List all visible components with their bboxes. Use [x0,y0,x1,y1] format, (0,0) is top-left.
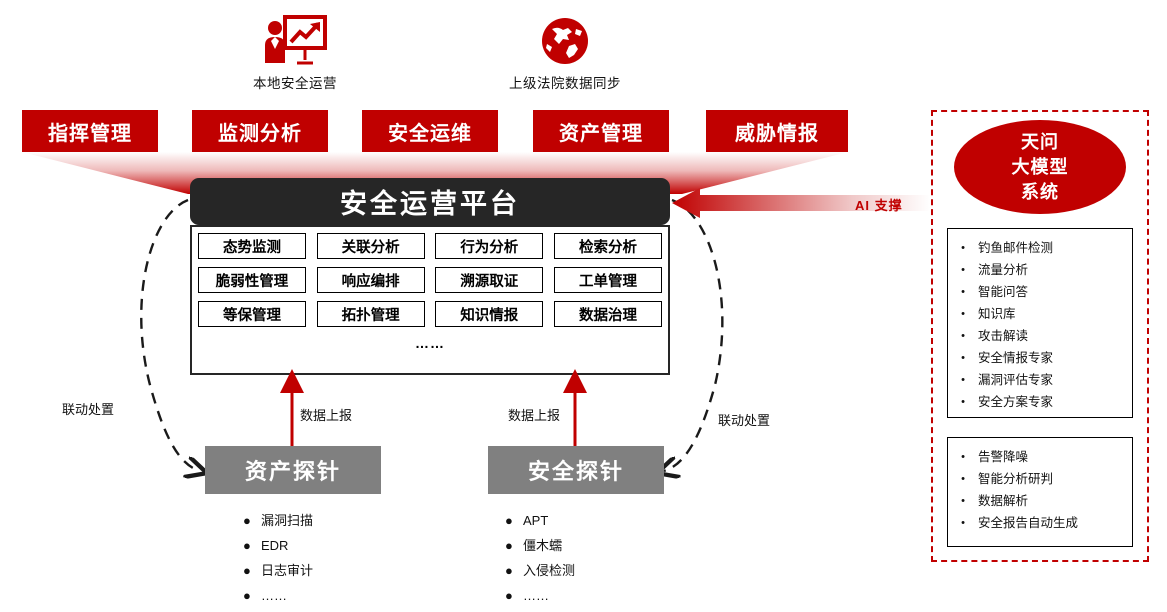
bullet-icon: • [948,369,978,391]
module-label: 工单管理 [579,270,637,291]
top-icon-court-data-sync: 上级法院数据同步 [485,12,645,92]
module-label: 等保管理 [223,304,281,325]
bullet-icon: • [948,303,978,325]
list-item-label: EDR [261,533,288,558]
bullet-icon: ● [505,533,523,558]
list-item-label: …… [261,583,287,608]
probe-label: 资产探针 [245,454,341,486]
flow-label-ai-support: AI 支撑 [855,195,903,214]
module-label: 溯源取证 [460,270,518,291]
list-item-label: 钓鱼邮件检测 [978,237,1053,259]
list-item-label: 漏洞评估专家 [978,369,1053,391]
module-box[interactable]: 数据治理 [554,301,662,327]
bullet-icon: • [948,347,978,369]
bullet-icon: ● [505,558,523,583]
ai-capability-list-secondary: •告警降噪 •智能分析研判 •数据解析 •安全报告自动生成 [947,437,1133,547]
module-box[interactable]: 拓扑管理 [317,301,425,327]
bullet-icon: • [948,490,978,512]
ai-capability-list-primary: •钓鱼邮件检测 •流量分析 •智能问答 •知识库 •攻击解读 •安全情报专家 •… [947,228,1133,418]
list-item-label: 流量分析 [978,259,1028,281]
module-box[interactable]: 行为分析 [435,233,543,259]
module-box[interactable]: 响应编排 [317,267,425,293]
top-icon-label: 本地安全运营 [215,72,375,92]
module-box[interactable]: 检索分析 [554,233,662,259]
bullet-icon: • [948,281,978,303]
probe-list-asset: ●漏洞扫描 ●EDR ●日志审计 ●…… [243,508,313,608]
module-box[interactable]: 溯源取证 [435,267,543,293]
flow-label-report-left: 数据上报 [300,405,352,424]
list-item: •钓鱼邮件检测 [948,237,1132,259]
list-item-label: 入侵检测 [523,558,575,583]
list-item-label: 僵木蠕 [523,533,562,558]
bullet-icon: • [948,512,978,534]
top-icon-local-operations: 本地安全运营 [215,12,375,92]
capability-box-0[interactable]: 指挥管理 [22,110,158,152]
list-item: •知识库 [948,303,1132,325]
module-box[interactable]: 工单管理 [554,267,662,293]
list-item: ●入侵检测 [505,558,575,583]
module-box[interactable]: 等保管理 [198,301,306,327]
module-row: 等保管理 拓扑管理 知识情报 数据治理 [198,301,662,327]
module-label: 态势监测 [223,236,281,257]
ai-title-line-2: 大模型 [1012,155,1069,180]
capability-box-4[interactable]: 威胁情报 [706,110,848,152]
list-item: •智能分析研判 [948,468,1132,490]
ai-title-line-3: 系统 [1021,180,1059,205]
list-item: ●…… [243,583,313,608]
list-item: •安全情报专家 [948,347,1132,369]
list-item-label: …… [523,583,549,608]
capability-label: 指挥管理 [48,117,132,146]
list-item: ●僵木蠕 [505,533,575,558]
probe-box-security[interactable]: 安全探针 [488,446,664,494]
module-label: 知识情报 [460,304,518,325]
list-item-label: 知识库 [978,303,1016,325]
list-item: •漏洞评估专家 [948,369,1132,391]
list-item: •安全方案专家 [948,391,1132,413]
list-item: •攻击解读 [948,325,1132,347]
flow-label-report-right: 数据上报 [508,405,560,424]
module-label: 行为分析 [460,236,518,257]
list-item: ●EDR [243,533,313,558]
flow-label-linkage-left: 联动处置 [62,399,114,418]
flow-label-linkage-right: 联动处置 [718,410,770,429]
bullet-icon: • [948,391,978,413]
bullet-icon: ● [243,583,261,608]
list-item-label: 智能分析研判 [978,468,1053,490]
list-item-label: 安全情报专家 [978,347,1053,369]
bullet-icon: ● [505,583,523,608]
list-item-label: 安全报告自动生成 [978,512,1078,534]
module-label: 响应编排 [342,270,400,291]
ai-model-badge[interactable]: 天问 大模型 系统 [954,120,1126,214]
list-item: •安全报告自动生成 [948,512,1132,534]
list-item-label: 数据解析 [978,490,1028,512]
list-item: ●漏洞扫描 [243,508,313,533]
bullet-icon: • [948,446,978,468]
platform-module-grid: 态势监测 关联分析 行为分析 检索分析 脆弱性管理 响应编排 溯源取证 工单管理… [198,233,662,351]
list-item-label: APT [523,508,548,533]
module-box[interactable]: 知识情报 [435,301,543,327]
list-item: •数据解析 [948,490,1132,512]
probe-label: 安全探针 [528,454,624,486]
module-row: 态势监测 关联分析 行为分析 检索分析 [198,233,662,259]
module-box[interactable]: 脆弱性管理 [198,267,306,293]
top-icon-label: 上级法院数据同步 [485,72,645,92]
bullet-icon: • [948,237,978,259]
ai-title-line-1: 天问 [1021,130,1059,155]
capability-label: 安全运维 [388,117,472,146]
list-item-label: 告警降噪 [978,446,1028,468]
bullet-icon: ● [243,558,261,583]
list-item: ●日志审计 [243,558,313,583]
list-item: •智能问答 [948,281,1132,303]
capability-label: 资产管理 [559,117,643,146]
probe-box-asset[interactable]: 资产探针 [205,446,381,494]
list-item: ●APT [505,508,575,533]
list-item-label: 日志审计 [261,558,313,583]
globe-icon [485,12,645,70]
platform-title-bar: 安全运营平台 [190,178,670,225]
module-label: 关联分析 [342,236,400,257]
page-title: 安全运营平台 [340,182,520,221]
list-item-label: 安全方案专家 [978,391,1053,413]
bullet-icon: ● [243,533,261,558]
list-item: •告警降噪 [948,446,1132,468]
bullet-icon: • [948,468,978,490]
list-item-label: 漏洞扫描 [261,508,313,533]
bullet-icon: • [948,325,978,347]
capability-label: 威胁情报 [735,117,819,146]
module-label: 拓扑管理 [342,304,400,325]
capability-box-1[interactable]: 监测分析 [192,110,328,152]
module-more-indicator: …… [198,335,662,351]
probe-list-security: ●APT ●僵木蠕 ●入侵检测 ●…… [505,508,575,608]
bullet-icon: ● [243,508,261,533]
list-item-label: 智能问答 [978,281,1028,303]
list-item-label: 攻击解读 [978,325,1028,347]
bullet-icon: ● [505,508,523,533]
module-box[interactable]: 态势监测 [198,233,306,259]
bullet-icon: • [948,259,978,281]
list-item: •流量分析 [948,259,1132,281]
module-label: 脆弱性管理 [216,270,289,291]
capability-box-3[interactable]: 资产管理 [533,110,669,152]
list-item: ●…… [505,583,575,608]
module-label: 数据治理 [579,304,637,325]
module-row: 脆弱性管理 响应编排 溯源取证 工单管理 [198,267,662,293]
module-label: 检索分析 [579,236,637,257]
capability-label: 监测分析 [218,117,302,146]
module-box[interactable]: 关联分析 [317,233,425,259]
presentation-chart-icon [215,12,375,70]
capability-box-2[interactable]: 安全运维 [362,110,498,152]
